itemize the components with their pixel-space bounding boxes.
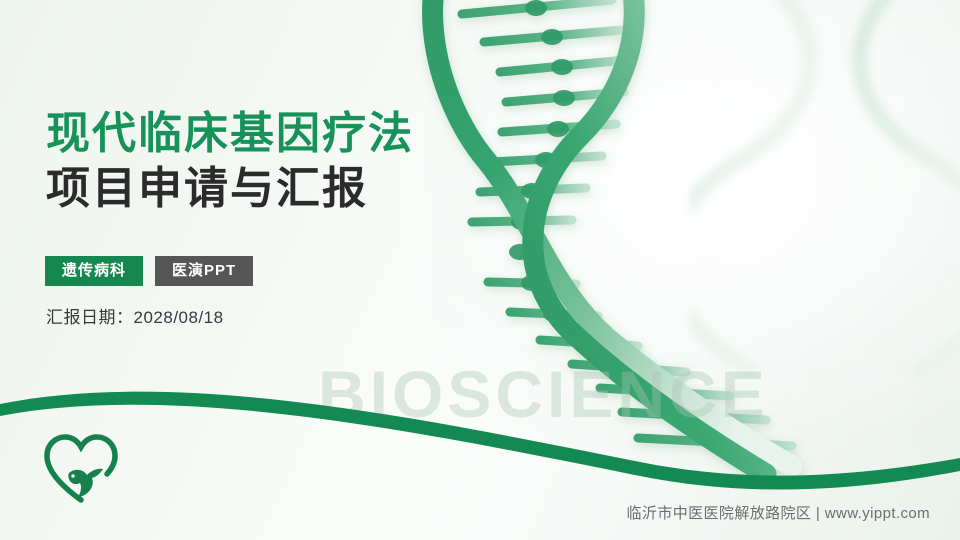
page-title: 现代临床基因疗法 项目申请与汇报 <box>46 106 414 216</box>
presentation-title-slide: BIOSCIENCE 现代临床基因疗法 项目申请与汇报 遗传病科 医演PPT 汇… <box>0 0 960 540</box>
report-date-text: 汇报日期：2028/08/18 <box>46 303 224 328</box>
status-badge-brand: 医演PPT <box>155 256 253 286</box>
title-line-secondary: 项目申请与汇报 <box>46 161 414 216</box>
heart-dove-logo-icon <box>42 432 120 506</box>
footer-text: 临沂市中医医院解放路院区 | www.yippt.com <box>627 502 930 523</box>
title-line-primary: 现代临床基因疗法 <box>46 106 414 161</box>
badge-group: 遗传病科 医演PPT <box>45 256 253 286</box>
status-badge-department: 遗传病科 <box>45 256 143 286</box>
